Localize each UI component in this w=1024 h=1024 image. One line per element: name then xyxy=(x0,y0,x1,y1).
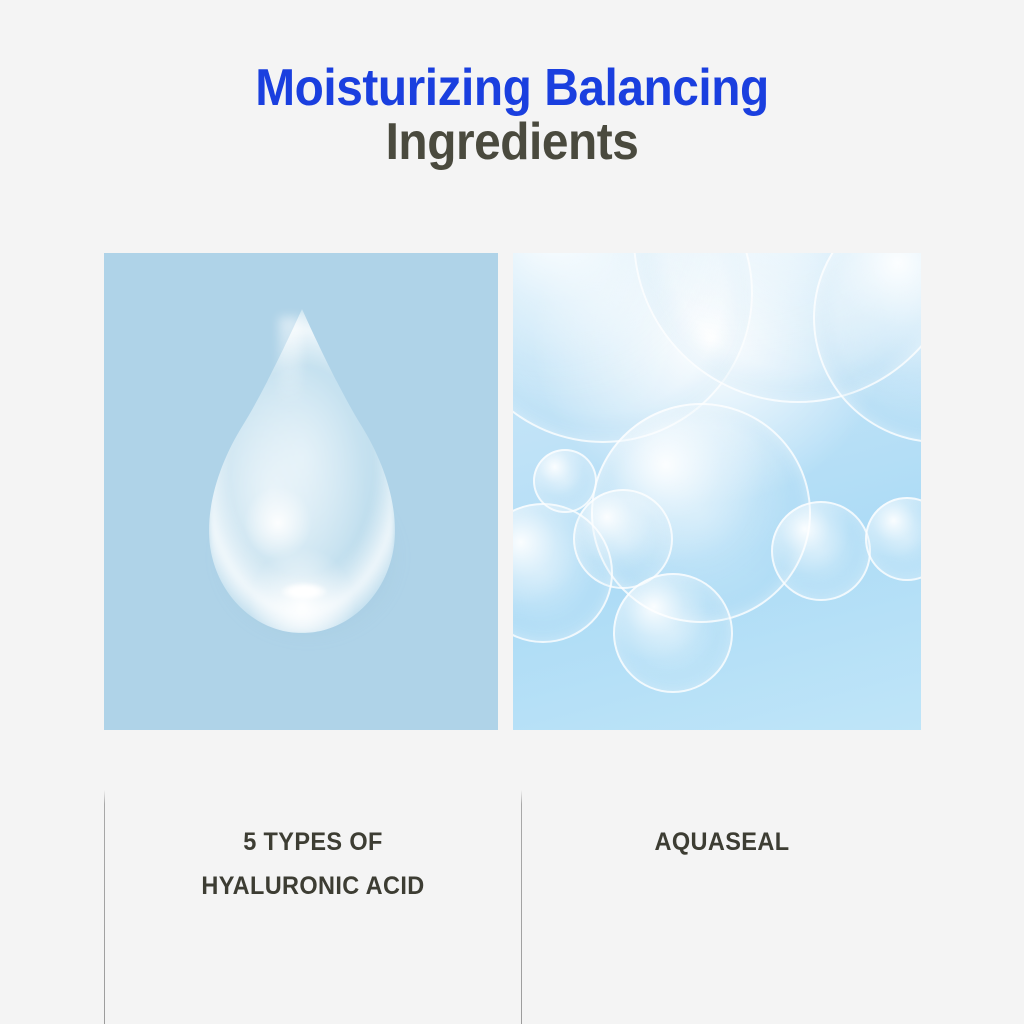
page-title-line-1: Moisturizing Balancing xyxy=(41,62,983,116)
droplet-caustic-highlight xyxy=(281,583,327,600)
caption-hyaluronic-acid-line-2: HYALURONIC ACID xyxy=(117,864,508,908)
ingredient-image-aquaseal xyxy=(513,253,921,730)
divider-middle xyxy=(521,790,522,1024)
caption-hyaluronic-acid-line-1: 5 TYPES OF xyxy=(117,820,508,864)
ingredient-image-panels xyxy=(104,253,921,730)
bubble-9 xyxy=(533,449,597,513)
ingredient-image-hyaluronic-acid xyxy=(104,253,498,730)
caption-aquaseal: AQUASEAL xyxy=(534,820,910,864)
page-title-line-2: Ingredients xyxy=(41,116,983,170)
caption-hyaluronic-acid: 5 TYPES OF HYALURONIC ACID xyxy=(117,820,508,908)
bubble-7 xyxy=(771,501,871,601)
water-droplet-icon xyxy=(195,309,411,649)
divider-left xyxy=(104,790,105,1024)
ingredients-infographic: Moisturizing Balancing Ingredients 5 TYP… xyxy=(0,0,1024,1024)
bubble-6 xyxy=(613,573,733,693)
droplet-tip-highlight xyxy=(279,317,301,409)
caption-aquaseal-line-1: AQUASEAL xyxy=(534,820,910,864)
page-title: Moisturizing Balancing Ingredients xyxy=(0,62,1024,169)
